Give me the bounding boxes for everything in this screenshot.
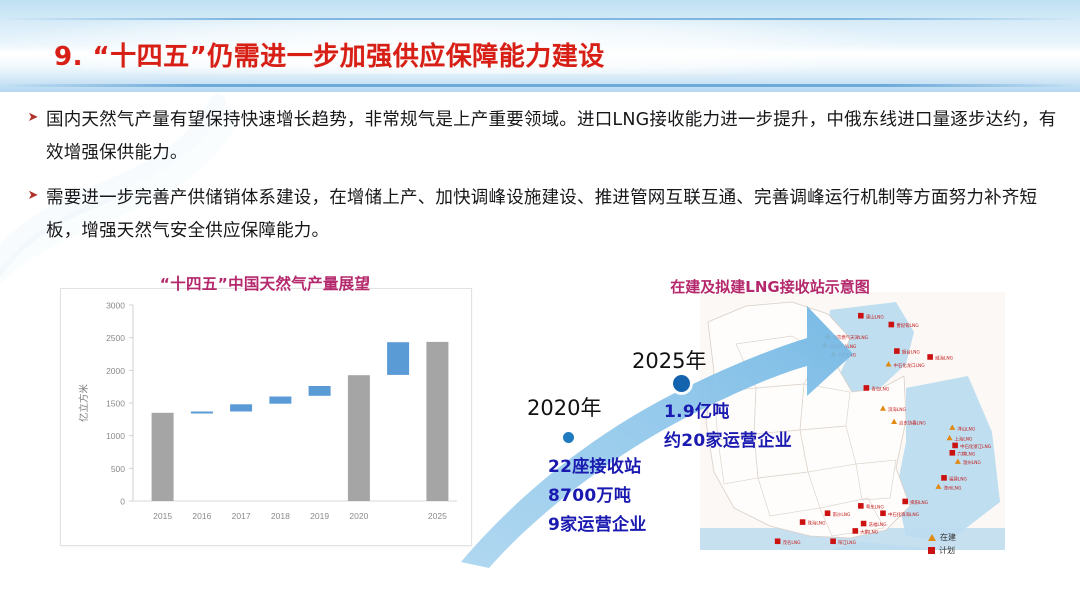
map-marker-square-icon bbox=[880, 510, 886, 516]
callout-2025-line: 约20家运营企业 bbox=[664, 427, 792, 456]
map-station-label: 漳州LNG bbox=[943, 484, 962, 491]
map-station-label: 中石化浙江LNG bbox=[960, 443, 992, 450]
map-marker-square-icon bbox=[950, 450, 956, 456]
callout-2020-line: 8700万吨 bbox=[548, 482, 647, 511]
map-marker-square-icon bbox=[927, 354, 933, 360]
map-station-label: 温州LNG bbox=[963, 459, 982, 466]
map-marker-square-icon bbox=[894, 348, 900, 354]
map-station-label: 滨海LNG bbox=[888, 406, 907, 413]
legend-item-planned: 计划 bbox=[928, 544, 956, 557]
header-rule-bottom bbox=[0, 84, 1080, 87]
header-rule-top bbox=[0, 18, 1080, 20]
map-marker-square-icon bbox=[858, 503, 864, 509]
map-marker-square-icon bbox=[858, 313, 864, 319]
map-title: 在建及拟建LNG接收站示意图 bbox=[620, 276, 920, 297]
bullet-arrow-icon: ➤ bbox=[20, 182, 46, 202]
growth-arrow-icon bbox=[455, 300, 855, 570]
map-marker-square-icon bbox=[889, 322, 895, 328]
bullet-text: 国内天然气产量有望保持快速增长趋势，非常规气是上产重要领域。进口LNG接收能力进… bbox=[46, 104, 1065, 170]
bullet-arrow-icon: ➤ bbox=[20, 104, 46, 124]
y-axis-tick: 0 bbox=[120, 497, 125, 507]
map-station-label: 青岛LNG bbox=[871, 386, 890, 393]
marker-dot-2020 bbox=[563, 432, 574, 443]
map-station-label: 福建LNG bbox=[949, 475, 968, 482]
square-marker-icon bbox=[928, 547, 935, 554]
y-axis-label: 亿立方米 bbox=[78, 384, 90, 423]
chart-bar bbox=[387, 342, 409, 375]
chart-bar bbox=[230, 404, 252, 411]
x-axis-tick: 2018 bbox=[271, 511, 290, 521]
x-axis-tick: 2020 bbox=[349, 511, 368, 521]
map-station-label: 粤东LNG bbox=[866, 503, 885, 510]
y-axis-tick: 2500 bbox=[106, 333, 125, 343]
triangle-marker-icon bbox=[928, 534, 936, 541]
gas-production-chart: 050010001500200025003000亿立方米201520162017… bbox=[60, 288, 472, 546]
callout-2020: 22座接收站 8700万吨 9家运营企业 bbox=[548, 453, 647, 540]
map-station-label: 中石化珠海LNG bbox=[888, 511, 920, 518]
bullet-text: 需要进一步完善产供储销体系建设，在增储上产、加快调峰设施建设、推进管网互联互通、… bbox=[46, 182, 1065, 248]
map-marker-square-icon bbox=[952, 443, 958, 449]
x-axis-tick: 2025 bbox=[428, 511, 447, 521]
map-station-label: 洋山LNG bbox=[957, 425, 976, 432]
chart-bar bbox=[152, 413, 174, 501]
marker-dot-2025 bbox=[673, 375, 690, 392]
page-title: 9. “十四五”仍需进一步加强供应保障能力建设 bbox=[54, 36, 605, 73]
map-station-label: 揭阳LNG bbox=[910, 499, 929, 506]
map-station-label: 大鹏LNG bbox=[860, 529, 879, 536]
map-legend: 在建 计划 bbox=[928, 531, 956, 557]
y-axis-tick: 1500 bbox=[106, 399, 125, 409]
map-station-label: 曹妃甸LNG bbox=[896, 322, 919, 329]
legend-label: 计划 bbox=[939, 544, 955, 557]
callout-year-2025: 2025年 bbox=[632, 345, 706, 375]
map-marker-square-icon bbox=[861, 521, 867, 527]
x-axis-tick: 2017 bbox=[232, 511, 251, 521]
y-axis-tick: 500 bbox=[111, 464, 125, 474]
callout-year-2020: 2020年 bbox=[527, 392, 601, 422]
chart-canvas: 050010001500200025003000亿立方米201520162017… bbox=[61, 289, 469, 543]
list-item: ➤ 国内天然气产量有望保持快速增长趋势，非常规气是上产重要领域。进口LNG接收能… bbox=[20, 104, 1065, 170]
map-station-label: 烟台LNG bbox=[902, 349, 921, 356]
map-station-label: 上海LNG bbox=[955, 436, 974, 443]
legend-item-under-construction: 在建 bbox=[928, 531, 956, 544]
map-station-label: 唐山LNG bbox=[866, 313, 885, 320]
slide: 9. “十四五”仍需进一步加强供应保障能力建设 ➤ 国内天然气产量有望保持快速增… bbox=[0, 0, 1080, 608]
y-axis-tick: 1000 bbox=[106, 431, 125, 441]
map-station-label: 威海LNG bbox=[935, 355, 954, 362]
map-station-label: 中石化龙口LNG bbox=[894, 362, 926, 369]
chart-bar bbox=[269, 397, 291, 404]
chart-bar bbox=[309, 386, 331, 396]
legend-label: 在建 bbox=[940, 531, 956, 544]
map-marker-square-icon bbox=[902, 499, 908, 505]
x-axis-tick: 2015 bbox=[153, 511, 172, 521]
callout-2025-line: 1.9亿吨 bbox=[664, 398, 792, 427]
callout-2020-line: 22座接收站 bbox=[548, 453, 647, 482]
chart-title: “十四五”中国天然气产量展望 bbox=[60, 272, 470, 294]
callout-2020-line: 9家运营企业 bbox=[548, 511, 647, 540]
map-station-label: 启东协鑫LNG bbox=[899, 419, 926, 426]
map-station-label: 迭福LNG bbox=[869, 521, 888, 528]
x-axis-tick: 2016 bbox=[192, 511, 211, 521]
bullet-list: ➤ 国内天然气产量有望保持快速增长趋势，非常规气是上产重要领域。进口LNG接收能… bbox=[20, 104, 1065, 260]
map-marker-square-icon bbox=[941, 475, 947, 481]
chart-bar bbox=[426, 342, 448, 501]
y-axis-tick: 2000 bbox=[106, 366, 125, 376]
chart-bar bbox=[191, 412, 213, 414]
list-item: ➤ 需要进一步完善产供储销体系建设，在增储上产、加快调峰设施建设、推进管网互联互… bbox=[20, 182, 1065, 248]
map-marker-square-icon bbox=[864, 385, 870, 391]
x-axis-tick: 2019 bbox=[310, 511, 329, 521]
callout-2025: 1.9亿吨 约20家运营企业 bbox=[664, 398, 792, 456]
chart-bar bbox=[348, 375, 370, 501]
map-station-label: 六横LNG bbox=[957, 450, 976, 457]
y-axis-tick: 3000 bbox=[106, 301, 125, 311]
